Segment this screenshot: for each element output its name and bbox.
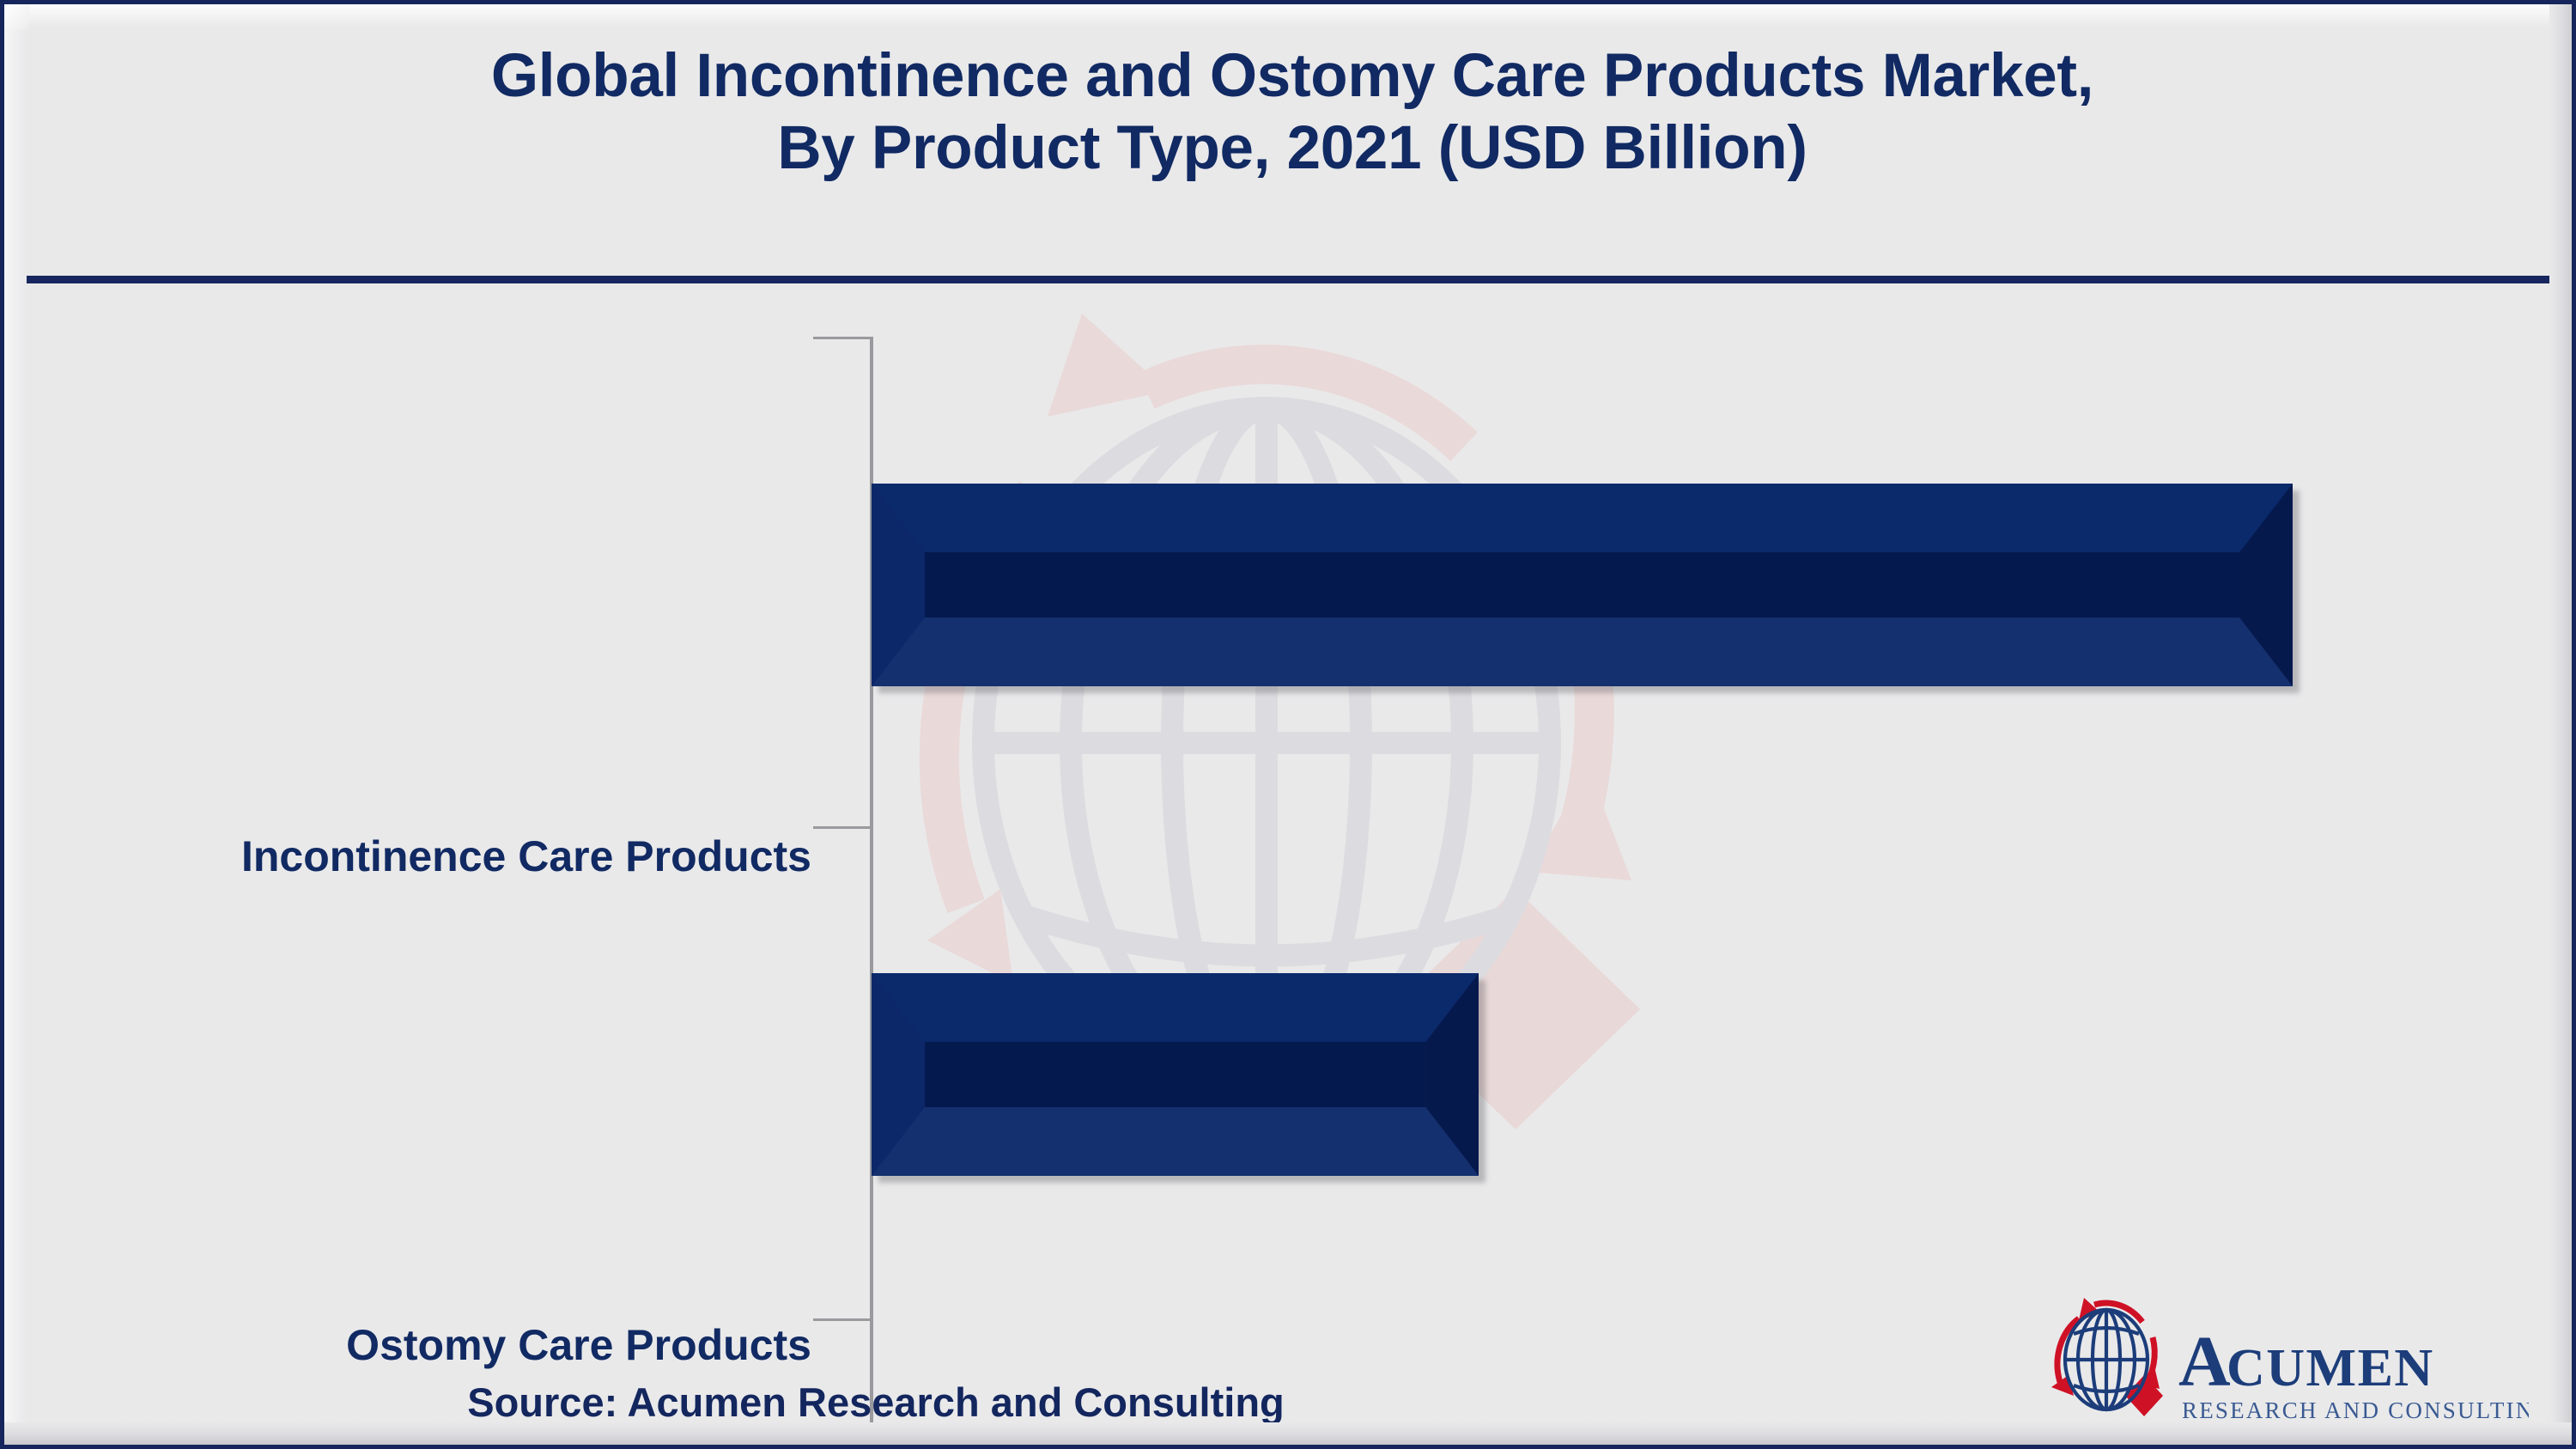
bar-body <box>872 484 2293 686</box>
bar-bevel-top <box>872 973 1479 1042</box>
logo-brand-text: A <box>2178 1322 2231 1402</box>
logo-tagline-text: RESEARCH AND CONSULTING <box>2182 1397 2529 1423</box>
bar-body <box>872 973 1479 1176</box>
y-axis-tick <box>813 337 872 339</box>
bar-face-center <box>925 1042 1425 1107</box>
bar-bevel-top <box>872 484 2293 552</box>
chart-header: Global Incontinence and Ostomy Care Prod… <box>4 4 2576 279</box>
y-axis-tick <box>813 1318 872 1321</box>
bar-incontinence-care-products <box>872 484 2293 686</box>
bar-face-center <box>925 552 2239 618</box>
globe-icon <box>2065 1310 2148 1409</box>
category-label-ostomy-care-products: Ostomy Care Products <box>346 1320 811 1370</box>
category-label-incontinence-care-products: Incontinence Care Products <box>241 831 811 881</box>
bar-ostomy-care-products <box>872 973 1479 1176</box>
acumen-logo: A CUMEN RESEARCH AND CONSULTING <box>2048 1293 2529 1430</box>
page-title: Global Incontinence and Ostomy Care Prod… <box>4 40 2576 186</box>
y-axis-tick <box>813 826 872 829</box>
plot-area: Incontinence Care Products Ostomy Care P… <box>4 279 2576 1344</box>
logo-brand-text-rest: CUMEN <box>2227 1339 2434 1397</box>
bar-bevel-bottom <box>872 618 2293 686</box>
bar-bevel-bottom <box>872 1107 1479 1176</box>
chart-figure: Global Incontinence and Ostomy Care Prod… <box>0 0 2576 1449</box>
source-caption-text: Source: Acumen Research and Consulting <box>467 1379 1285 1426</box>
